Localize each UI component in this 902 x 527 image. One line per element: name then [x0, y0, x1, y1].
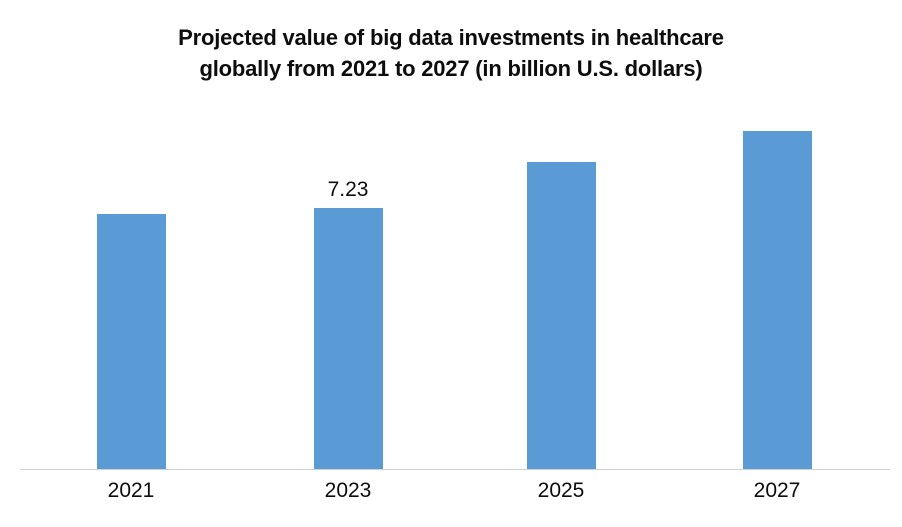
x-axis-label-2027: 2027 — [697, 479, 857, 503]
x-axis-label-2025: 2025 — [481, 479, 641, 503]
x-axis-label-2021: 2021 — [51, 479, 211, 503]
x-axis-line — [20, 469, 890, 470]
bar-2021[interactable] — [97, 214, 166, 470]
bars-layer: 7.23 — [0, 0, 902, 470]
bar-2025[interactable] — [527, 162, 596, 470]
x-axis-label-2023: 2023 — [268, 479, 428, 503]
x-axis-labels: 2021 2023 2025 2027 — [0, 479, 902, 519]
bar-chart-figure: Projected value of big data investments … — [0, 0, 902, 527]
bar-value-label-2023: 7.23 — [278, 178, 418, 202]
plot-area: 7.23 2021 2023 2025 2027 — [0, 0, 902, 527]
bar-2027[interactable] — [743, 131, 812, 470]
bar-2023[interactable] — [314, 208, 383, 470]
